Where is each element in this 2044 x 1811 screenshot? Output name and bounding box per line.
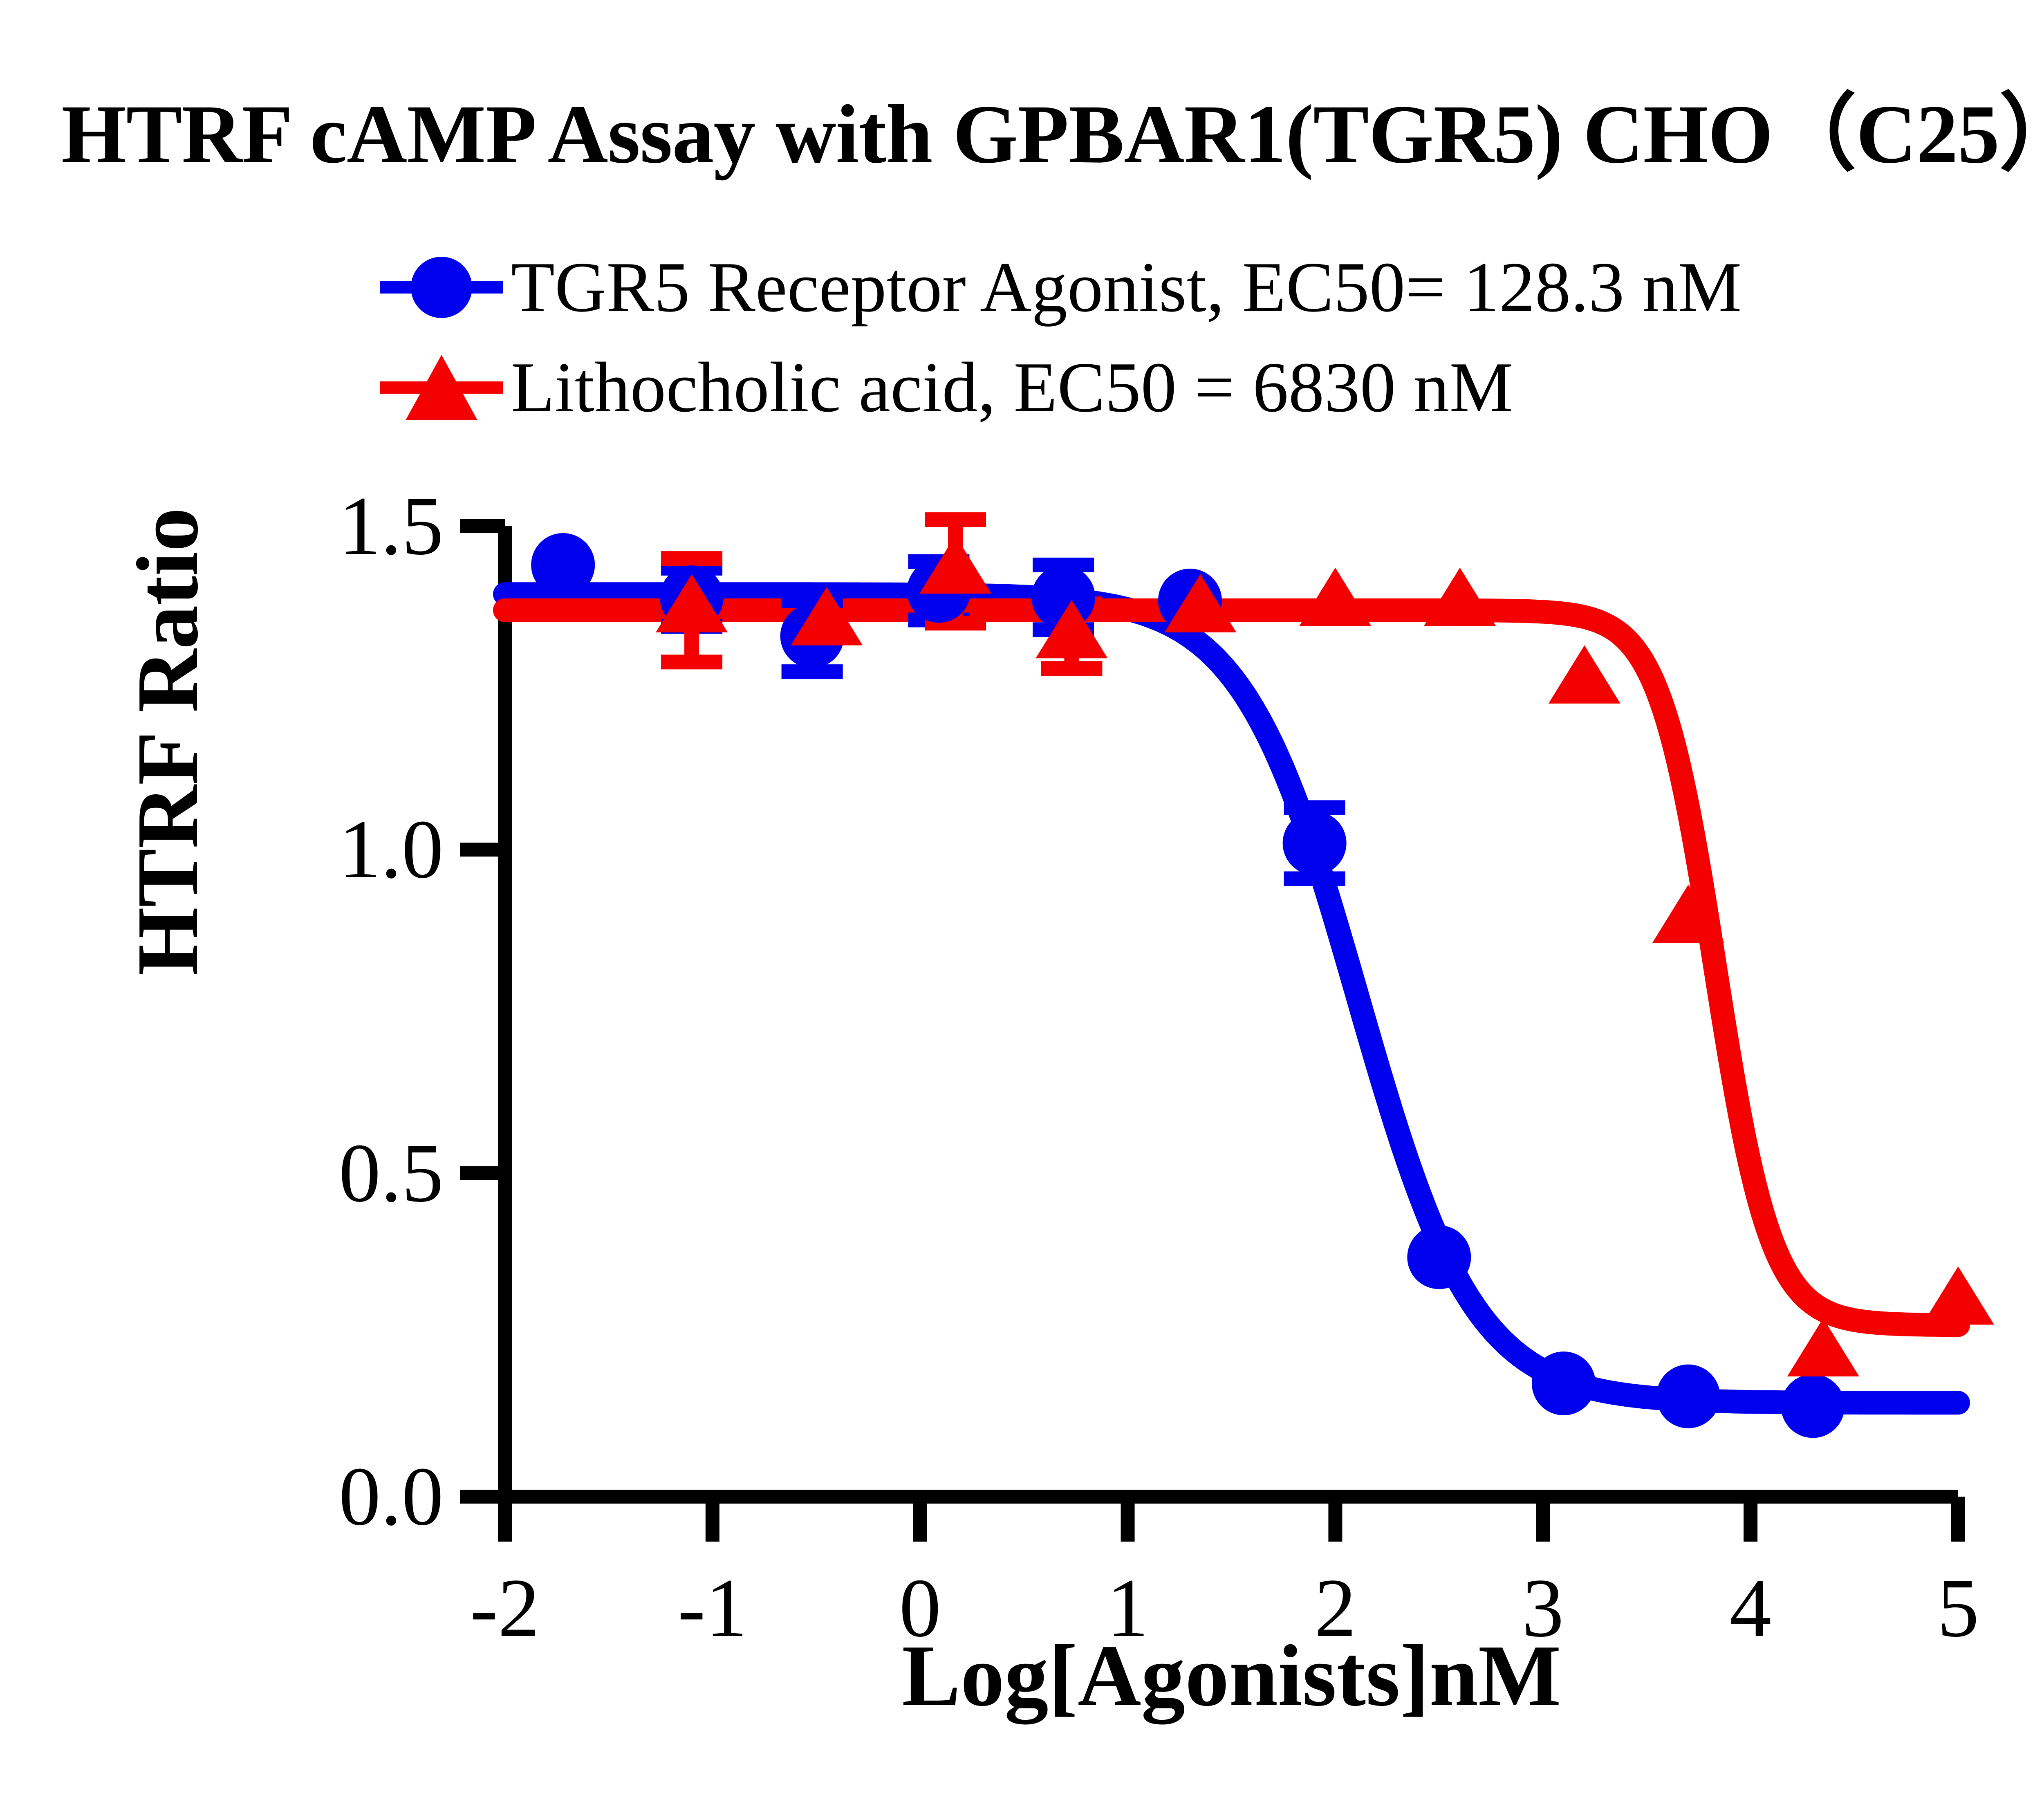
x-axis-tick-label: -1 <box>631 1560 794 1656</box>
x-axis-tick-label: 3 <box>1461 1560 1625 1656</box>
data-point-series-0 <box>1532 1352 1596 1415</box>
y-axis-tick-label: 0.0 <box>198 1448 444 1545</box>
x-axis-tick-label: 2 <box>1253 1560 1417 1656</box>
y-axis-tick-label: 1.0 <box>198 801 444 898</box>
y-axis-tick-label: 0.5 <box>198 1125 444 1222</box>
data-point-series-1 <box>1922 1266 1994 1325</box>
x-axis-tick-label: 4 <box>1669 1560 1832 1656</box>
y-axis-tick-label: 1.5 <box>198 478 444 574</box>
x-axis-tick-label: -2 <box>423 1560 587 1656</box>
data-point-series-0 <box>1283 811 1347 875</box>
data-point-series-1 <box>1424 568 1496 626</box>
x-axis-tick-label: 1 <box>1046 1560 1210 1656</box>
data-point-series-1 <box>1299 568 1371 626</box>
data-point-series-1 <box>1549 645 1620 704</box>
x-axis-tick-label: 5 <box>1876 1560 2040 1656</box>
fit-curve-series-1 <box>505 610 1958 1325</box>
data-point-series-0 <box>1656 1365 1720 1428</box>
data-point-series-0 <box>1407 1225 1471 1289</box>
data-point-series-0 <box>531 533 595 597</box>
x-axis-tick-label: 0 <box>838 1560 1002 1656</box>
data-point-series-0 <box>1781 1374 1845 1438</box>
fit-curve-series-0 <box>505 594 1958 1403</box>
